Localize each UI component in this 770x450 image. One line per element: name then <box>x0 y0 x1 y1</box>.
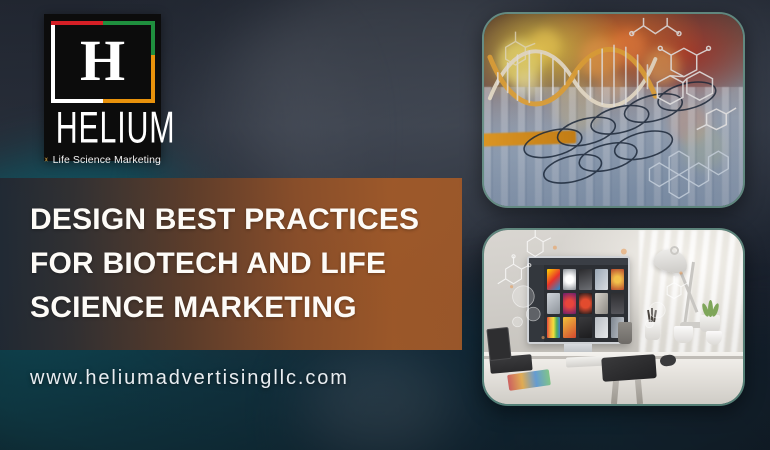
page-title-line-3: SCIENCE MARKETING <box>30 286 448 330</box>
logo-tagline-row: Life Science Marketing <box>44 153 161 166</box>
designer-desk-photo[interactable] <box>482 228 745 406</box>
dna-helix-icon <box>44 153 49 166</box>
spark-dot-icon <box>510 246 683 339</box>
page-title-line-2: FOR BIOTECH AND LIFE <box>30 242 448 286</box>
science-photo-shading <box>484 14 743 206</box>
helium-logo[interactable]: H HELIUM Life Science Marketing <box>44 14 161 161</box>
floating-molecules-overlay <box>484 230 743 404</box>
logo-wordmark: HELIUM <box>56 106 150 151</box>
page-title-line-1: DESIGN BEST PRACTICES <box>30 198 448 242</box>
logo-frame-mark: H <box>51 21 155 103</box>
logo-monogram: H <box>51 21 155 103</box>
title-band: DESIGN BEST PRACTICES FOR BIOTECH AND LI… <box>0 178 462 350</box>
science-dna-molecules-photo[interactable] <box>482 12 745 208</box>
science-photo-content <box>484 14 743 206</box>
logo-tagline: Life Science Marketing <box>53 154 161 166</box>
bubble-icon <box>513 286 666 328</box>
promo-banner: H HELIUM Life Science Marketing DESIGN B… <box>0 0 770 450</box>
website-url[interactable]: www.heliumadvertisingllc.com <box>30 367 349 390</box>
desk-photo-content <box>484 230 743 404</box>
